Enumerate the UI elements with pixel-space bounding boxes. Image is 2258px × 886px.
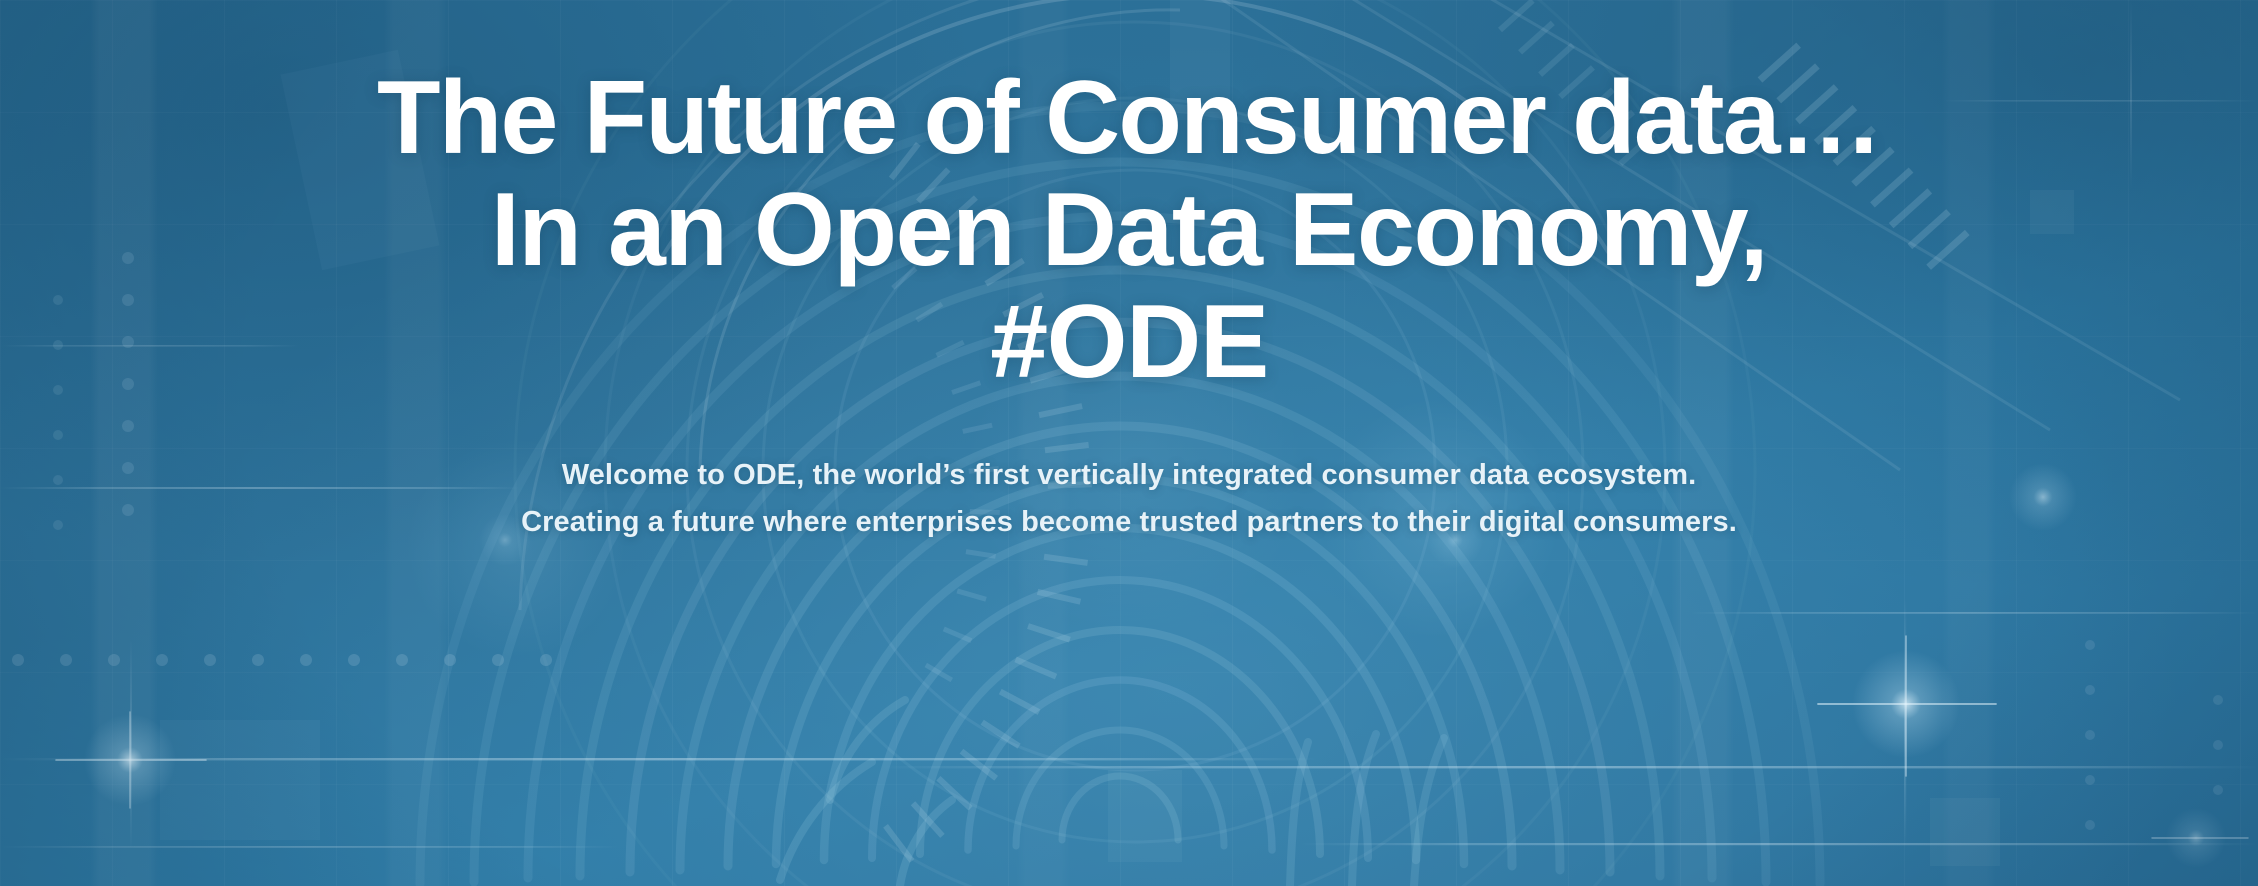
hero-banner: The Future of Consumer data… In an Open … <box>0 0 2258 886</box>
hero-subcopy: Welcome to ODE, the world’s first vertic… <box>514 452 1744 546</box>
headline-line-2: In an Open Data Economy, <box>0 174 2258 286</box>
hero-content: The Future of Consumer data… In an Open … <box>0 0 2258 886</box>
headline-line-1: The Future of Consumer data… <box>0 62 2258 174</box>
hero-headline: The Future of Consumer data… In an Open … <box>0 62 2258 398</box>
headline-line-3: #ODE <box>0 286 2258 398</box>
